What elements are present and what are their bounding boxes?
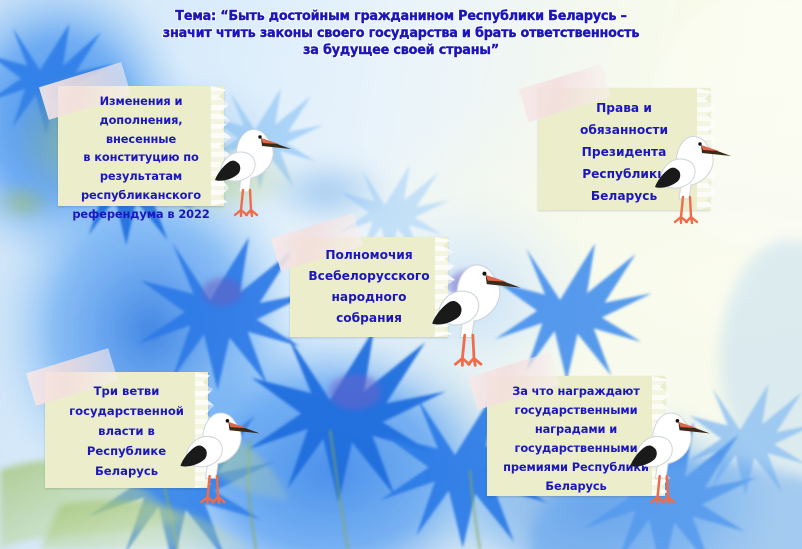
white-stork-icon: [420, 240, 528, 370]
white-stork-icon: [170, 390, 266, 508]
page-title: Тема: “Быть достойным гражданином Респуб…: [12, 8, 790, 59]
poster-canvas: Тема: “Быть достойным гражданином Респуб…: [0, 0, 802, 549]
note-card-changes-constitution[interactable]: Изменения и дополнения, внесенные в конс…: [58, 86, 224, 206]
card-text: Изменения и дополнения, внесенные в конс…: [58, 86, 224, 224]
white-stork-icon: [645, 115, 737, 227]
white-stork-icon: [620, 390, 716, 508]
white-stork-icon: [205, 108, 297, 220]
